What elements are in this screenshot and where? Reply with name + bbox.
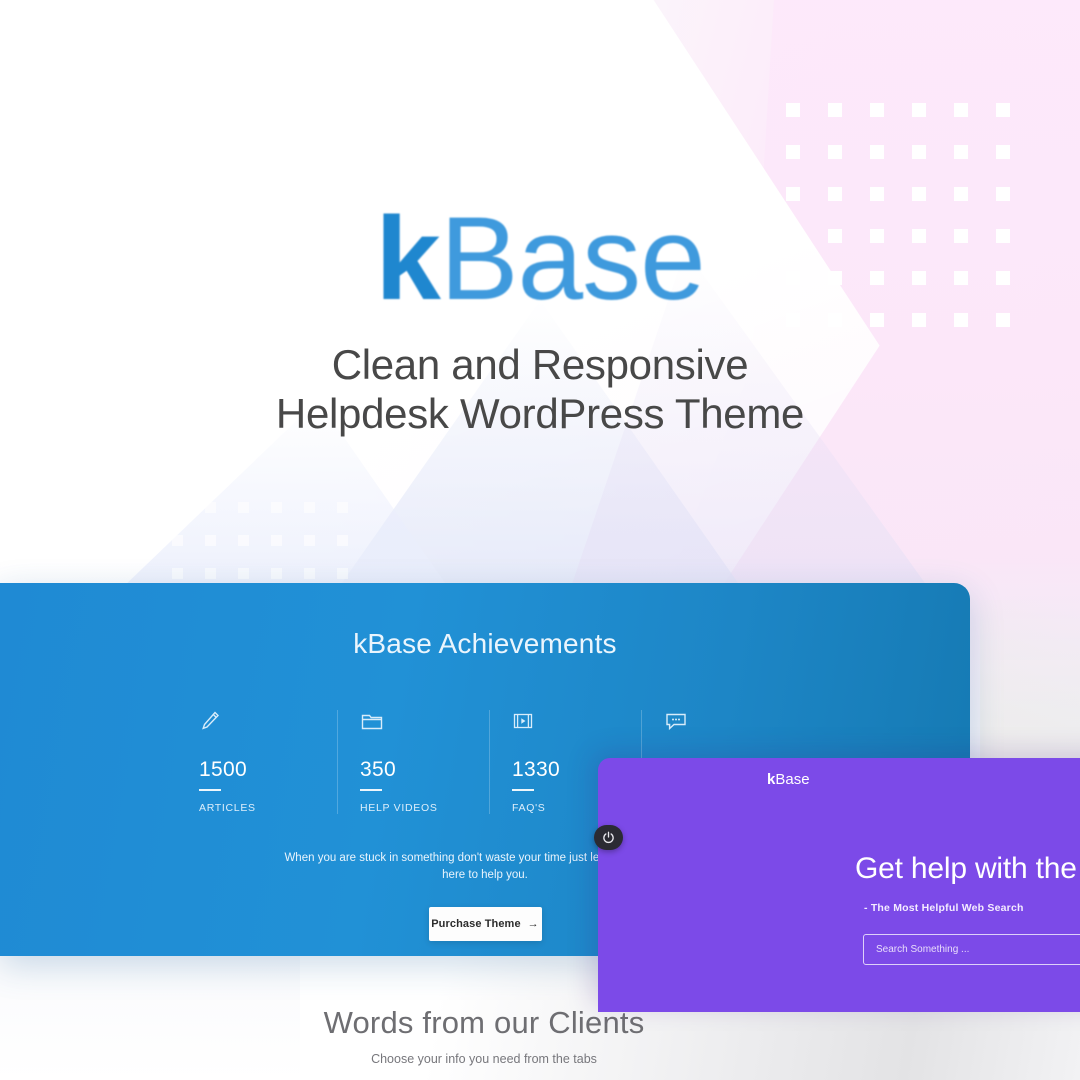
preview-logo[interactable]: kBase — [767, 771, 810, 788]
power-icon — [602, 831, 615, 844]
pencil-icon — [199, 710, 337, 736]
hero-tagline-line-1: Clean and Responsive — [332, 341, 749, 388]
theme-preview-card: kBase Home Blog Get help with the Advanc… — [598, 758, 1080, 1012]
film-icon — [512, 710, 641, 736]
hero-logo: kBase — [0, 198, 1080, 322]
hero-logo-base: Base — [440, 193, 705, 325]
preview-hero-title: Get help with the Advanced — [855, 852, 1080, 886]
stat-value: 1500 — [199, 758, 337, 782]
preview-logo-base: Base — [775, 771, 809, 788]
stat-label: ARTICLES — [199, 802, 337, 814]
decorative-dot-grid-left — [172, 502, 348, 579]
power-button[interactable] — [594, 825, 623, 850]
folder-icon — [360, 710, 489, 736]
purchase-theme-label: Purchase Theme — [431, 918, 520, 930]
stat-rule — [360, 789, 382, 791]
achievements-copy-line-1: When you are stuck in something don't wa… — [284, 852, 617, 864]
page-root: kBase Clean and Responsive Helpdesk Word… — [0, 0, 1080, 1080]
stat-rule — [512, 789, 534, 791]
testimonials-subtitle: Choose your info you need from the tabs — [0, 1052, 1080, 1066]
preview-hero: Get help with the Advanced - The Most He… — [598, 852, 1080, 914]
stat-articles: 1500 ARTICLES — [185, 710, 337, 814]
hero-logo-k: k — [375, 193, 440, 325]
arrow-right-icon: → — [528, 918, 539, 930]
testimonials-section: Words from our Clients Choose your info … — [0, 1005, 1080, 1066]
hero-tagline: Clean and Responsive Helpdesk WordPress … — [0, 340, 1080, 438]
hero-tagline-line-2: Helpdesk WordPress Theme — [0, 389, 1080, 438]
hero-section: kBase Clean and Responsive Helpdesk Word… — [0, 198, 1080, 438]
chat-bubble-icon — [664, 710, 793, 736]
achievements-title: kBase Achievements — [0, 583, 970, 660]
preview-hero-subtitle: - The Most Helpful Web Search — [855, 902, 1080, 914]
preview-hero-title-light: Get help with the — [855, 852, 1080, 885]
stat-label: HELP VIDEOS — [360, 802, 489, 814]
stat-rule — [199, 789, 221, 791]
stat-value: 350 — [360, 758, 489, 782]
purchase-theme-button[interactable]: Purchase Theme→ — [429, 907, 542, 941]
preview-header: kBase Home Blog — [598, 758, 1080, 804]
search-input[interactable] — [863, 934, 1080, 965]
stat-help-videos: 350 HELP VIDEOS — [337, 710, 489, 814]
